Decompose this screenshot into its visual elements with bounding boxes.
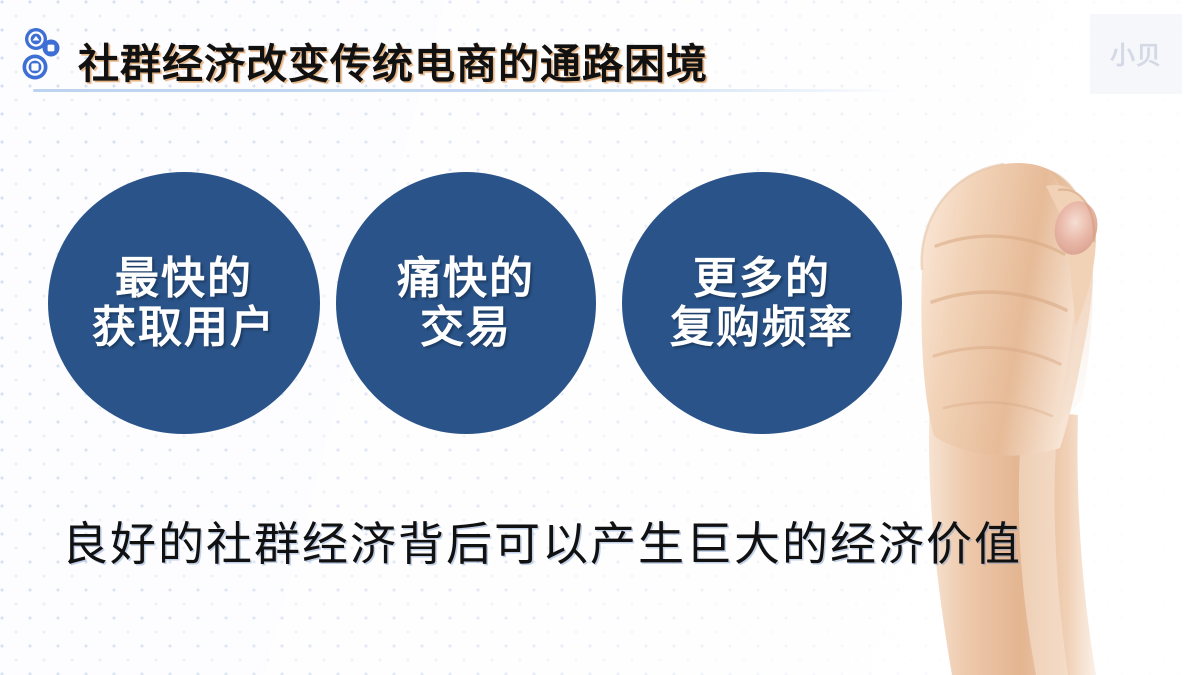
slide-header: 社群经济改变传统电商的通路困境 — [0, 0, 1200, 100]
bubble-line-2: 复购频率 — [670, 303, 854, 352]
bubble-line-2: 交易 — [420, 303, 512, 352]
bubble-line-1: 痛快的 — [397, 254, 535, 303]
community-nodes-icon — [20, 26, 66, 82]
watermark-logo: 小贝 — [1090, 14, 1182, 94]
bubble-line-2: 获取用户 — [92, 303, 276, 352]
slide-canvas: 社群经济改变传统电商的通路困境 小贝 最快的 获取用户 痛快的 交易 更多的 复… — [0, 0, 1200, 675]
bubble-row: 最快的 获取用户 痛快的 交易 更多的 复购频率 — [0, 172, 1200, 442]
page-title: 社群经济改变传统电商的通路困境 — [78, 30, 708, 90]
bubble-line-1: 更多的 — [693, 254, 831, 303]
bubble-line-1: 最快的 — [115, 254, 253, 303]
bubble-fastest-acquire-users[interactable]: 最快的 获取用户 — [48, 172, 320, 434]
bubble-smooth-transaction[interactable]: 痛快的 交易 — [336, 172, 596, 434]
bubble-more-repurchase-frequency[interactable]: 更多的 复购频率 — [622, 172, 902, 434]
title-underline — [33, 89, 903, 92]
slide-caption: 良好的社群经济背后可以产生巨大的经济价值 — [62, 508, 1022, 574]
